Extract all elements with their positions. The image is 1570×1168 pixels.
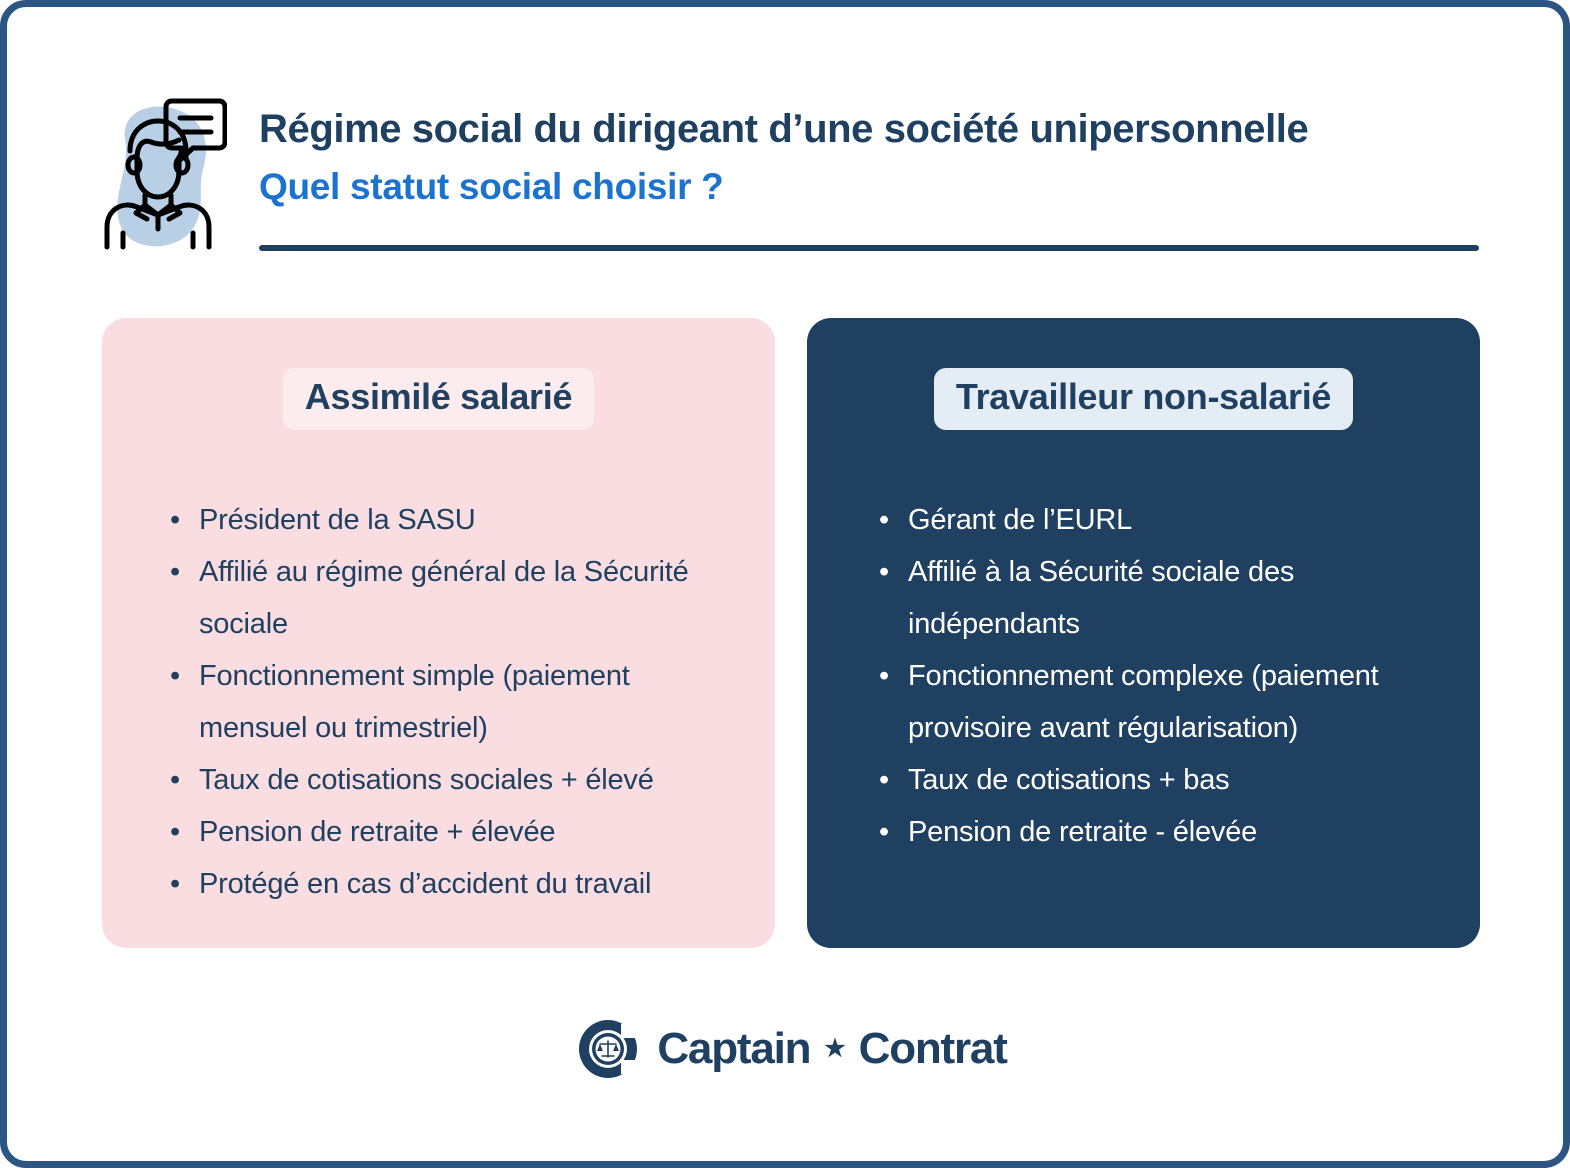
brand-second: Contrat: [859, 1024, 1007, 1074]
card-travailleur-non-salarie: Travailleur non-salarié Gérant de l’EURL…: [807, 318, 1480, 948]
infographic-frame: Régime social du dirigeant d’une société…: [0, 0, 1570, 1168]
captain-contrat-scales-icon: [577, 1018, 639, 1080]
header-text: Régime social du dirigeant d’une société…: [259, 105, 1499, 209]
list-item: Fonctionnement simple (paiement mensuel …: [102, 650, 775, 754]
list-item: Affilié au régime général de la Sécurité…: [102, 546, 775, 650]
card-heading-travailleur-non-salarie: Travailleur non-salarié: [934, 368, 1353, 430]
header: Régime social du dirigeant d’une société…: [7, 7, 1570, 277]
list-item: Fonctionnement complexe (paiement provis…: [811, 650, 1484, 754]
card-assimile-salarie: Assimilé salarié Président de la SASU Af…: [102, 318, 775, 948]
star-icon: ★: [824, 1037, 844, 1061]
list-item: Gérant de l’EURL: [811, 494, 1484, 546]
person-speech-bubble-icon: [103, 95, 227, 253]
title-divider: [259, 245, 1479, 251]
list-item: Pension de retraite + élevée: [102, 806, 775, 858]
card-heading-wrap-left: Assimilé salarié: [102, 368, 775, 430]
list-item: Protégé en cas d’accident du travail: [102, 858, 775, 910]
brand-first: Captain: [657, 1024, 810, 1074]
list-travailleur-non-salarie: Gérant de l’EURL Affilié à la Sécurité s…: [807, 494, 1484, 858]
page-title: Régime social du dirigeant d’une société…: [259, 105, 1499, 153]
brand-wordmark: Captain ★ Contrat: [657, 1024, 1006, 1074]
list-item: Taux de cotisations + bas: [811, 754, 1484, 806]
comparison-cards: Assimilé salarié Président de la SASU Af…: [102, 318, 1482, 948]
page-subtitle: Quel statut social choisir ?: [259, 165, 1499, 209]
list-item: Taux de cotisations sociales + élevé: [102, 754, 775, 806]
card-heading-wrap-right: Travailleur non-salarié: [807, 368, 1480, 430]
card-heading-assimile-salarie: Assimilé salarié: [283, 368, 594, 430]
list-assimile-salarie: Président de la SASU Affilié au régime g…: [102, 494, 775, 910]
list-item: Pension de retraite - élevée: [811, 806, 1484, 858]
list-item: Président de la SASU: [102, 494, 775, 546]
list-item: Affilié à la Sécurité sociale des indépe…: [811, 546, 1484, 650]
brand-logo: Captain ★ Contrat: [7, 1003, 1570, 1095]
